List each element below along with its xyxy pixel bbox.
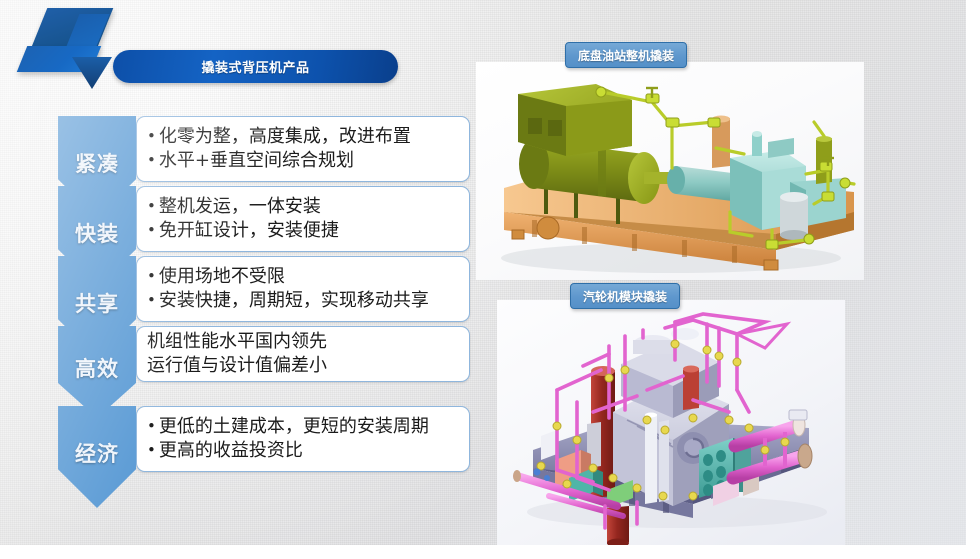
feature-row: 高效机组性能水平国内领先运行值与设计值偏差小 [58, 326, 470, 382]
feature-card-2: 整机发运，一体安装免开缸设计，安装便捷 [136, 186, 470, 252]
feature-chevron-4: 高效 [58, 326, 136, 418]
feature-line: 更低的土建成本，更短的安装周期 [147, 415, 461, 439]
caption-text: 汽轮机模块撬装 [583, 288, 667, 305]
feature-row: 快装整机发运，一体安装免开缸设计，安装便捷 [58, 186, 470, 252]
feature-row: 紧凑化零为整，高度集成，改进布置水平+垂直空间综合规划 [58, 116, 470, 182]
feature-card-4: 机组性能水平国内领先运行值与设计值偏差小 [136, 326, 470, 382]
feature-card-5: 更低的土建成本，更短的安装周期更高的收益投资比 [136, 406, 470, 472]
feature-line: 整机发运，一体安装 [147, 195, 461, 219]
feature-chevron-label: 经济 [75, 438, 119, 468]
feature-line: 使用场地不受限 [147, 265, 461, 289]
slide-canvas: 撬装式背压机产品 紧凑化零为整，高度集成，改进布置水平+垂直空间综合规划快装整机… [0, 0, 966, 545]
feature-line: 安装快捷，周期短，实现移动共享 [147, 289, 461, 313]
picture-turbine-module-skid [497, 300, 845, 545]
caption-text: 底盘油站整机撬装 [578, 47, 674, 64]
feature-chevron-label: 快装 [75, 218, 119, 248]
feature-row: 经济更低的土建成本，更短的安装周期更高的收益投资比 [58, 406, 470, 472]
feature-line: 水平+垂直空间综合规划 [147, 149, 461, 173]
feature-chevron-label: 高效 [75, 353, 119, 383]
cad-render-turbine-module [497, 300, 845, 545]
feature-card-1: 化零为整，高度集成，改进布置水平+垂直空间综合规划 [136, 116, 470, 182]
caption-turbine-module: 汽轮机模块撬装 [570, 283, 680, 309]
feature-line: 免开缸设计，安装便捷 [147, 219, 461, 243]
feature-line: 化零为整，高度集成，改进布置 [147, 125, 461, 149]
feature-card-3: 使用场地不受限安装快捷，周期短，实现移动共享 [136, 256, 470, 322]
feature-chevron-5: 经济 [58, 406, 136, 508]
feature-line: 运行值与设计值偏差小 [147, 354, 461, 378]
feature-chevron-label: 共享 [75, 288, 119, 318]
picture-chassis-oil-station-skid [476, 62, 864, 280]
feature-line: 机组性能水平国内领先 [147, 330, 461, 354]
feature-chevron-label: 紧凑 [75, 148, 119, 178]
page-title-text: 撬装式背压机产品 [201, 57, 309, 76]
caption-chassis-oil-station: 底盘油站整机撬装 [565, 42, 687, 68]
page-title: 撬装式背压机产品 [113, 50, 398, 83]
feature-row: 共享使用场地不受限安装快捷，周期短，实现移动共享 [58, 256, 470, 322]
feature-line: 更高的收益投资比 [147, 439, 461, 463]
cad-render-generator-skid [476, 62, 864, 280]
deco-triangle-point [72, 57, 112, 89]
